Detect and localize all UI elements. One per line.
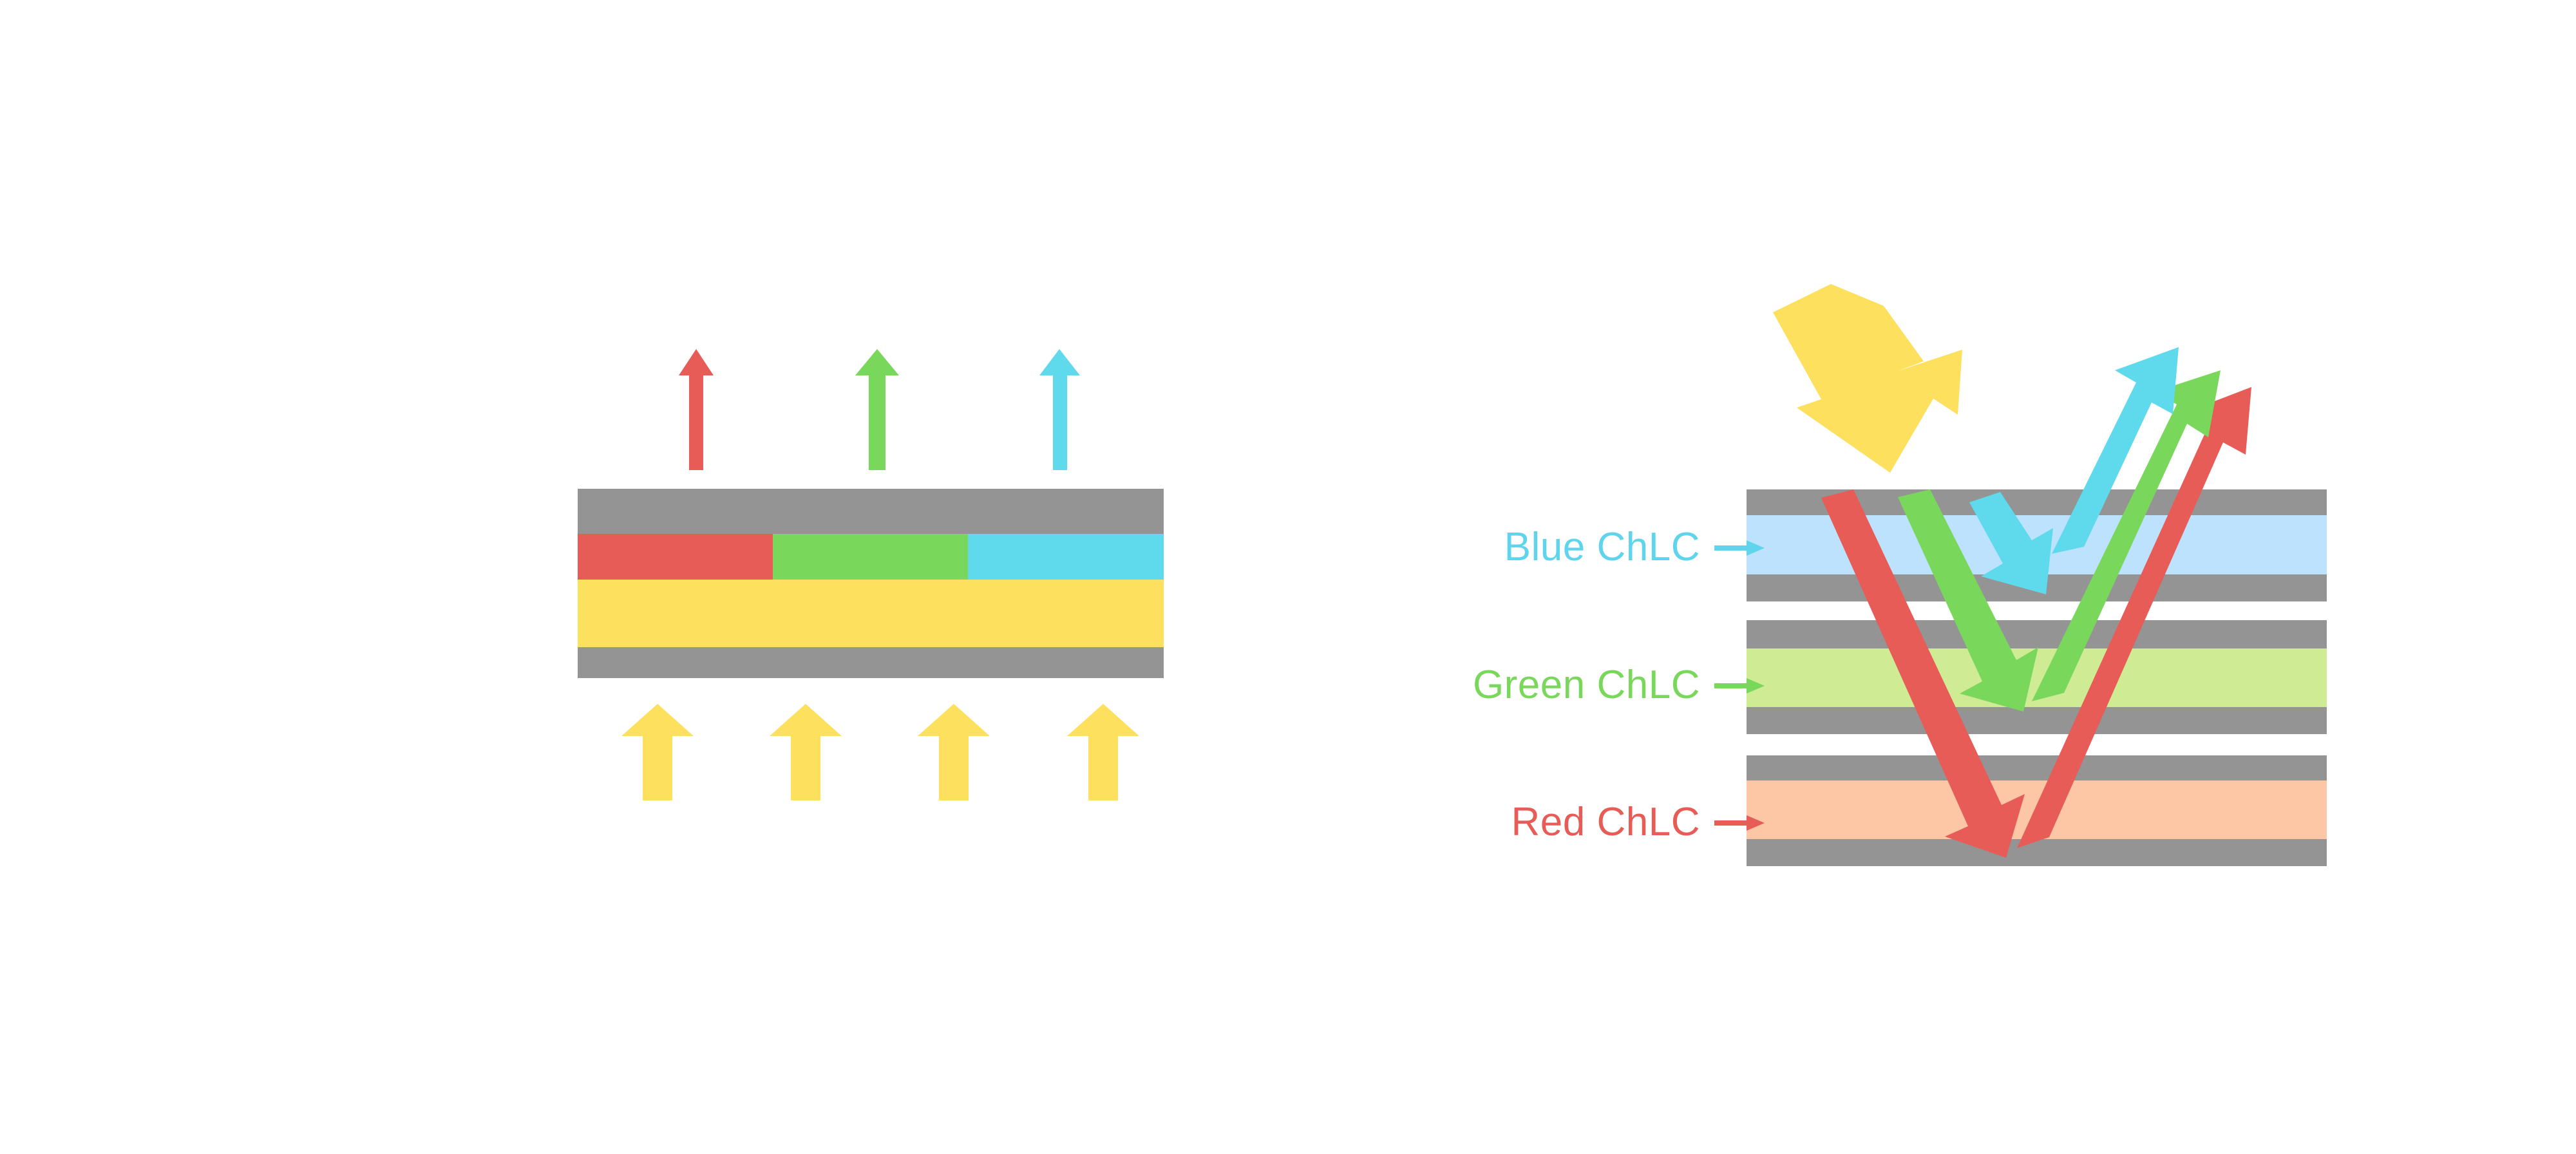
backlight-layer (578, 580, 1164, 647)
blue-subpixel (968, 534, 1164, 580)
blue-chlc-label: Blue ChLC (1504, 525, 1700, 569)
bottom-electrode (578, 647, 1164, 678)
green-subpixel (773, 534, 968, 580)
left-stack (578, 489, 1164, 678)
diagram-root: Blue ChLC Green ChLC Red ChLC (0, 0, 2576, 1154)
green-bottom-electrode (1747, 707, 2327, 734)
red-bottom-electrode (1747, 839, 2327, 866)
green-top-electrode (1747, 620, 2327, 648)
top-electrode (578, 489, 1164, 534)
green-chlc-label: Green ChLC (1473, 663, 1700, 707)
red-top-electrode (1747, 755, 2327, 780)
red-subpixel (578, 534, 773, 580)
red-chlc-label: Red ChLC (1511, 800, 1700, 844)
diagram-canvas: Blue ChLC Green ChLC Red ChLC (0, 0, 2576, 1154)
